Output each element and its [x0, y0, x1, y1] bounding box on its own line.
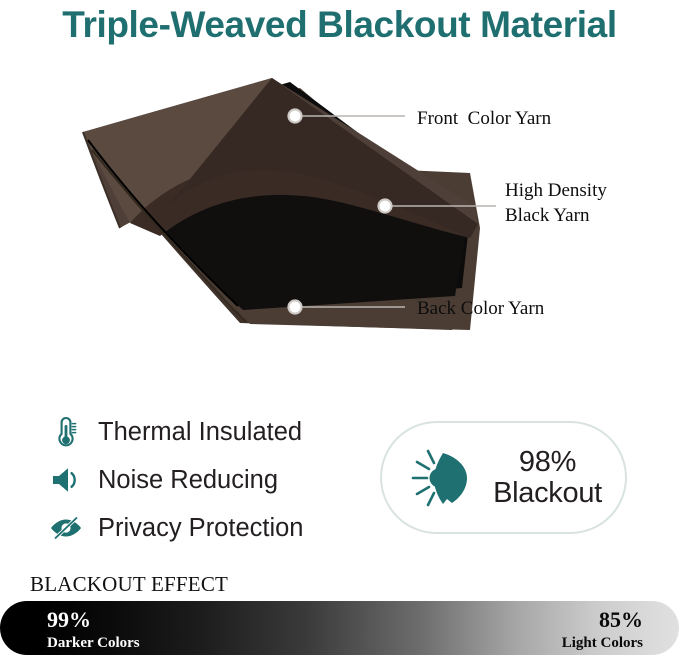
callout-marker-high [379, 200, 392, 213]
effect-light-colors-group: 85% Light Colors [562, 609, 643, 653]
feature-label-thermal-insulated: Thermal Insulated [98, 418, 302, 447]
eye-slash-icon [44, 508, 88, 548]
blackout-effect-gradient-bar: 99% Darker Colors 85% Light Colors [0, 601, 679, 655]
feature-item-noise-reducing: Noise Reducing [44, 456, 364, 504]
callout-label-high-density-black-yarn: High DensityBlack Yarn [505, 178, 607, 228]
callout-label-high-line2: Black Yarn [505, 205, 589, 226]
sun-blocked-icon [405, 445, 477, 511]
callout-marker-back [289, 301, 302, 314]
speaker-sound-icon [44, 460, 88, 500]
callout-label-high-line1: High Density [505, 180, 607, 201]
effect-darker-caption: Darker Colors [47, 633, 140, 653]
feature-item-thermal-insulated: Thermal Insulated [44, 408, 364, 456]
feature-label-noise-reducing: Noise Reducing [98, 466, 278, 495]
blackout-effect-heading: BLACKOUT EFFECT [30, 572, 228, 597]
badge-percent: 98% [519, 446, 576, 478]
callout-marker-front [289, 110, 302, 123]
feature-label-privacy-protection: Privacy Protection [98, 514, 304, 543]
callout-label-back-color-yarn: Back Color Yarn [417, 296, 544, 321]
badge-label: Blackout [493, 477, 602, 509]
thermometer-icon [44, 412, 88, 452]
effect-light-percent: 85% [562, 609, 643, 631]
blackout-percentage-badge: 98% Blackout [380, 421, 627, 534]
badge-text-block: 98% Blackout [493, 447, 602, 508]
effect-darker-colors-group: 99% Darker Colors [47, 609, 140, 653]
fabric-diagram: Front Color Yarn High DensityBlack Yarn … [0, 78, 679, 368]
callout-label-front-color-yarn: Front Color Yarn [417, 106, 551, 131]
feature-item-privacy-protection: Privacy Protection [44, 504, 364, 552]
page-title: Triple-Weaved Blackout Material [0, 0, 679, 52]
effect-darker-percent: 99% [47, 609, 140, 631]
feature-list: Thermal Insulated Noise Reducing Privacy… [44, 408, 364, 552]
effect-light-caption: Light Colors [562, 633, 643, 653]
